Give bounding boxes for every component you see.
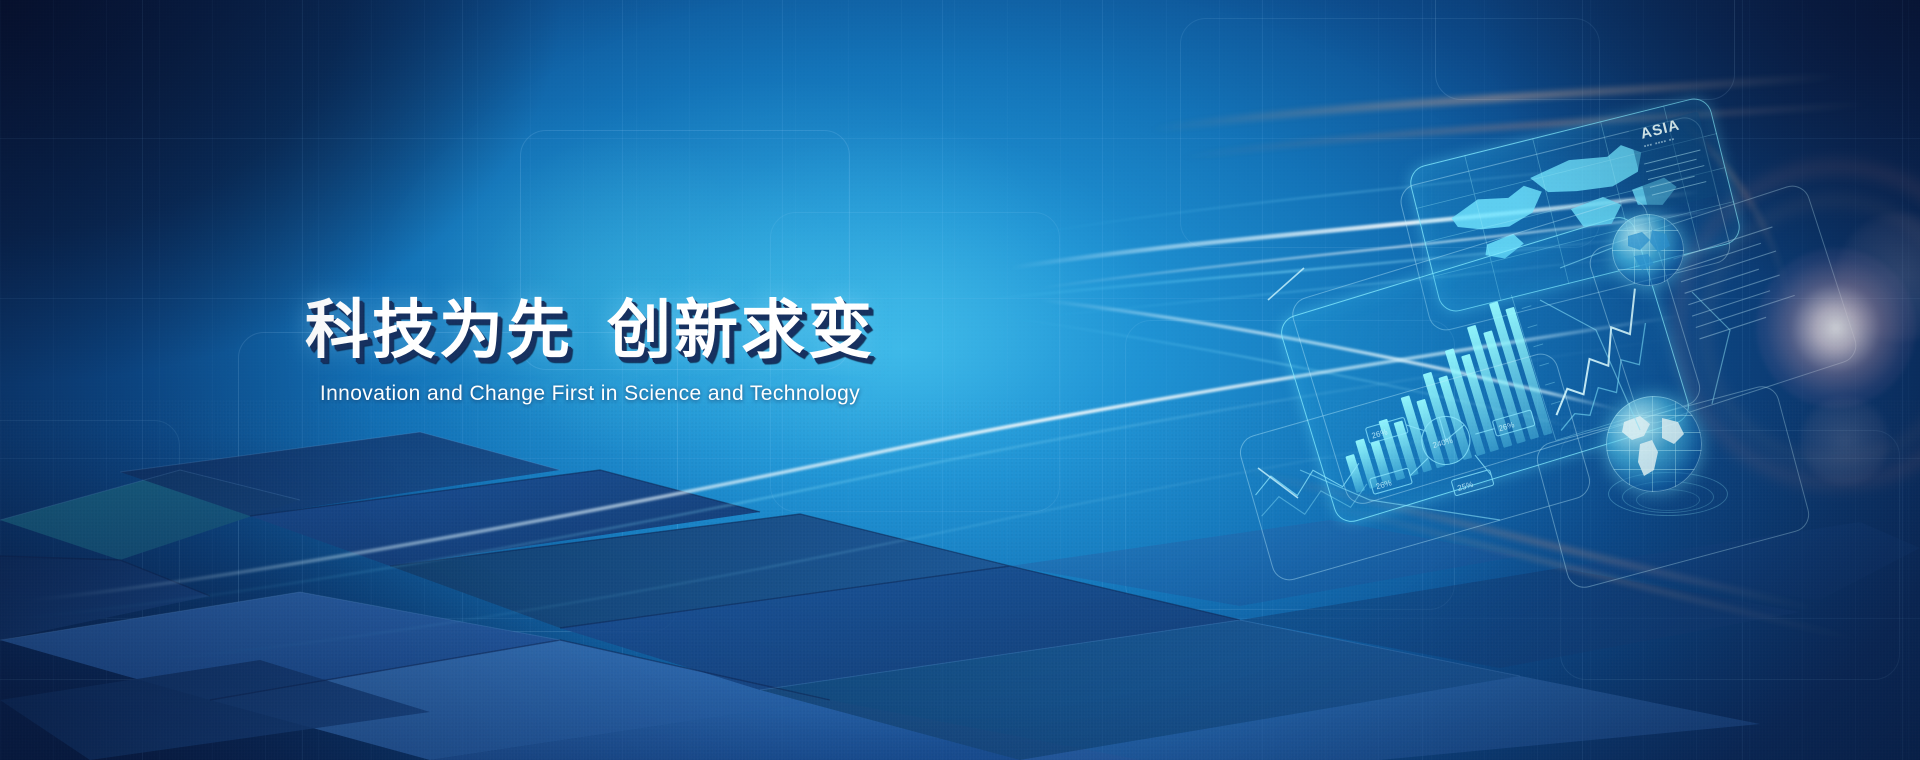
headline-part-2: 创新求变	[607, 294, 875, 366]
hero-banner: ASIA ▪▪▪ ▪▪▪▪ ▪▪	[0, 0, 1920, 760]
svg-text:240%: 240%	[1432, 436, 1454, 450]
headline-part-1: 科技为先	[305, 294, 573, 366]
hud-text-panel	[1585, 181, 1861, 428]
svg-text:26%: 26%	[1375, 478, 1393, 491]
svg-text:25%: 25%	[1456, 480, 1474, 493]
banner-text-block: 科技为先创新求变 Innovation and Change First in …	[0, 298, 1180, 406]
svg-text:26%: 26%	[1371, 427, 1389, 440]
hud-map-panel-label: ASIA	[1639, 117, 1682, 143]
hud-chart-panel	[1277, 213, 1694, 527]
hud-line-graph	[1277, 213, 1694, 527]
hud-bar-chart	[1313, 285, 1567, 493]
hud-globe-wireframe-top	[1612, 214, 1684, 286]
page-subtitle: Innovation and Change First in Science a…	[0, 382, 1180, 406]
hud-globe-americas	[1606, 396, 1702, 492]
hud-flow-panel: 26% 26% 240% 25% 26%	[1236, 349, 1595, 584]
svg-text:26%: 26%	[1498, 420, 1516, 433]
page-title: 科技为先创新求变	[0, 298, 1180, 362]
hud-base-panel	[1533, 382, 1813, 592]
slab-noise-texture	[0, 400, 1920, 760]
hud-map-panel: ASIA ▪▪▪ ▪▪▪▪ ▪▪	[1406, 95, 1743, 316]
